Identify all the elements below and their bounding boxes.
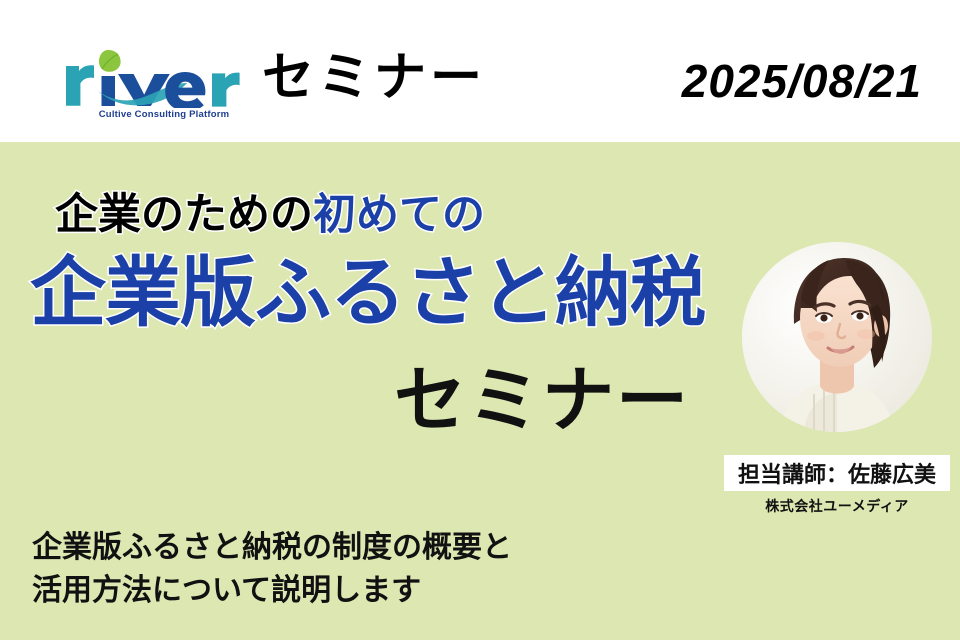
title-line-3: セミナー — [0, 364, 690, 436]
river-logo: Cultive Consulting Platform — [62, 48, 242, 130]
speaker-portrait — [742, 242, 932, 432]
banner-header: Cultive Consulting Platform セミナー 2025/08… — [0, 0, 960, 142]
seminar-date: 2025/08/21 — [682, 58, 922, 104]
title-line-1: 企業のための初めての — [55, 194, 485, 237]
header-seminar-label: セミナー — [262, 52, 486, 104]
seminar-banner: Cultive Consulting Platform セミナー 2025/08… — [0, 0, 960, 640]
lead-line-2: 活用方法について説明します — [32, 570, 512, 613]
title-line-1-black: 企業のための — [55, 190, 313, 240]
speaker-company: 株式会社ユーメディア — [724, 496, 950, 516]
river-wordmark-icon — [62, 48, 242, 108]
speaker-name: 担当講師：佐藤広美 — [738, 457, 936, 489]
speaker-name-band: 担当講師：佐藤広美 — [724, 455, 950, 491]
title-line-2: 企業版ふるさと納税 — [30, 255, 705, 331]
lead-line-1: 企業版ふるさと納税の制度の概要と — [32, 527, 512, 570]
title-line-1-blue: 初めての — [313, 190, 485, 240]
speaker-block: 担当講師：佐藤広美 株式会社ユーメディア — [724, 242, 950, 522]
banner-body: 企業のための初めての 企業版ふるさと納税 セミナー 企業版ふるさと納税の制度の概… — [0, 142, 960, 640]
logo-tagline: Cultive Consulting Platform — [84, 109, 244, 120]
lead-description: 企業版ふるさと納税の制度の概要と 活用方法について説明します — [32, 527, 512, 612]
